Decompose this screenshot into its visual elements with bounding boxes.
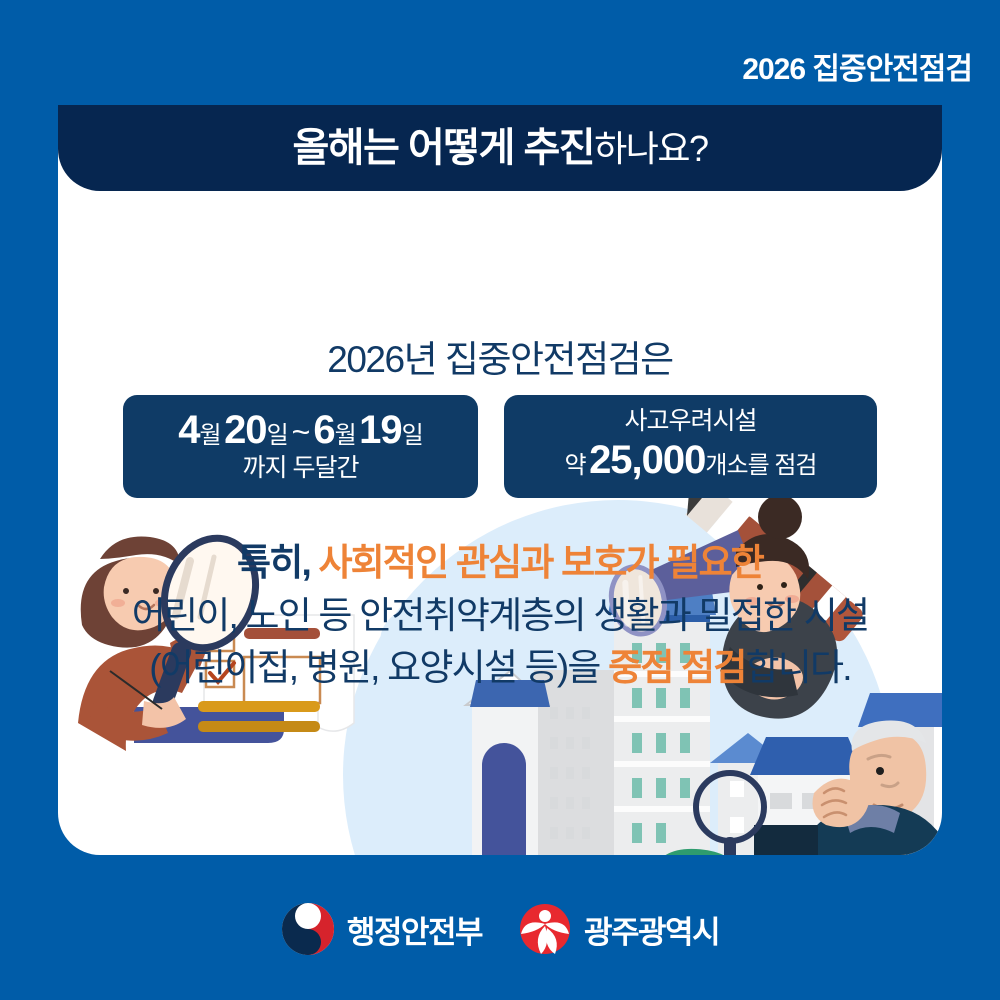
target-number: 25,000 [589,438,705,482]
start-month-unit: 월 [200,422,221,449]
content-card: 2026년 집중안전점검은 4월 20일~6월 19일 까지 두달간 사고우려시… [58,105,942,855]
logo-gwangju: 광주광역시 [518,902,719,956]
target-heading: 사고우려시설 [526,407,855,437]
gwangju-emblem-icon [518,902,572,956]
end-month-unit: 월 [335,422,356,449]
arch-door [482,743,526,855]
taegeuk-icon [281,902,335,956]
range-tilde: ~ [288,414,314,450]
banner-title-bold: 올해는 어떻게 추진 [292,126,594,170]
paragraph-line-1: 특히, 사회적인 관심과 보호가 필요한 [58,537,942,590]
period-box: 4월 20일~6월 19일 까지 두달간 [123,395,478,498]
subtitle: 2026년 집중안전점검은 [58,329,942,383]
laptop [754,825,818,855]
target-box: 사고우려시설 약 25,000개소를 점검 [504,395,877,498]
target-suffix: 개소를 점검 [705,452,816,479]
info-box-group: 4월 20일~6월 19일 까지 두달간 사고우려시설 약 25,000개소를 … [58,395,942,498]
paragraph-line-3-end: 합니다. [746,647,851,688]
period-note: 까지 두달간 [145,454,456,484]
logo-mois-label: 행정안전부 [347,907,482,952]
paragraph-line-3-accent: 중점 점검 [608,647,745,688]
start-day-unit: 일 [267,422,288,449]
banner-title: 올해는 어떻게 추진하나요? [292,128,707,168]
hair-bun [758,495,802,539]
logo-mois: 행정안전부 [281,902,482,956]
end-day-unit: 일 [402,422,423,449]
paragraph-line-2: 어린이, 노인 등 안전취약계층의 생활과 밀접한 시설 [58,590,942,643]
poster-root: 2026 집중안전점검 [0,0,1000,1000]
period-line: 4월 20일~6월 19일 [145,407,456,454]
campaign-kicker: 2026 집중안전점검 [742,44,972,88]
section-banner: 올해는 어떻게 추진하나요? [58,105,942,191]
paragraph-line-3-start: (어린이집, 병원, 요양시설 등)을 [149,647,599,688]
end-month: 6 [313,408,334,452]
footer-logos: 행정안전부 광주광역시 [0,902,1000,956]
banner-title-light: 하나요? [594,128,707,169]
start-day: 20 [224,408,267,452]
end-day: 19 [359,408,402,452]
target-line: 약 25,000개소를 점검 [526,437,855,484]
logo-gwangju-label: 광주광역시 [584,907,719,952]
paragraph-line-3: (어린이집, 병원, 요양시설 등)을 중점 점검합니다. [58,642,942,695]
paragraph-line-1-plain: 특히, [237,542,310,583]
start-month: 4 [178,408,199,452]
paragraph-line-1-accent: 사회적인 관심과 보호가 필요한 [318,542,763,583]
body-paragraph: 특히, 사회적인 관심과 보호가 필요한 어린이, 노인 등 안전취약계층의 생… [58,537,942,695]
target-approx: 약 [565,452,586,479]
